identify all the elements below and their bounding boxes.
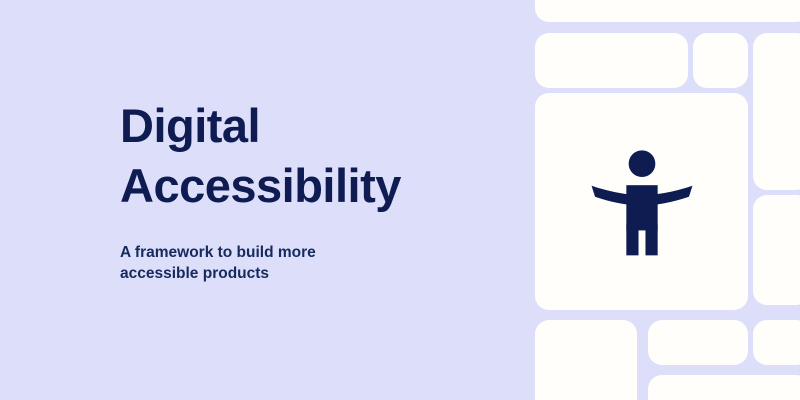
mosaic-card-icon	[535, 93, 748, 310]
mosaic-card-right-tall-2	[753, 195, 800, 305]
mosaic-card-row3-left	[535, 320, 637, 400]
mosaic-card-row1-wide	[535, 33, 688, 88]
mosaic-card-row3-mid	[648, 320, 748, 365]
page-title: Digital Accessibility	[120, 96, 520, 216]
accessibility-person-icon	[584, 144, 700, 260]
mosaic-card-row1-small	[693, 33, 748, 88]
mosaic-card-row3-right	[753, 320, 800, 365]
digital-accessibility-banner: Digital Accessibility A framework to bui…	[0, 0, 800, 400]
mosaic-card-row4-wide	[648, 375, 800, 400]
mosaic-card-top-wide	[535, 0, 800, 22]
page-subtitle: A framework to build more accessible pro…	[120, 216, 375, 284]
mosaic-card-right-tall-1	[753, 33, 800, 190]
hero-text-block: Digital Accessibility A framework to bui…	[120, 96, 520, 284]
